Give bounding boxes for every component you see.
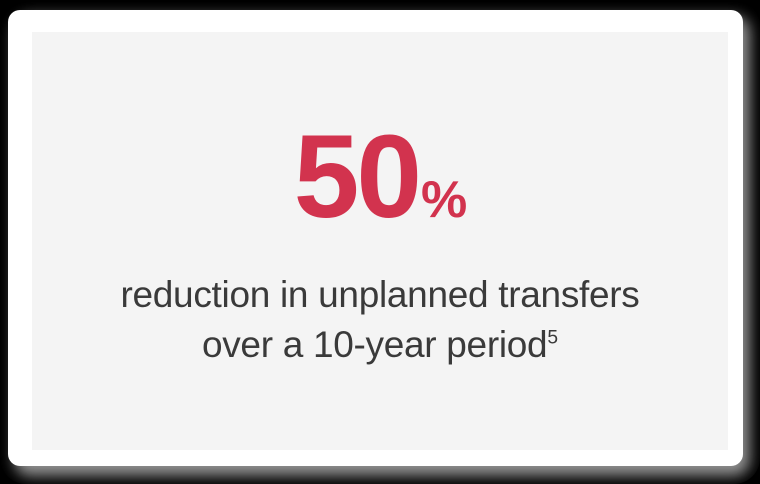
caption-line-2-wrapper: over a 10-year period5 bbox=[120, 320, 639, 370]
white-frame-card: 50 % reduction in unplanned transfers ov… bbox=[8, 10, 743, 466]
caption-line-2: over a 10-year period bbox=[202, 324, 547, 365]
statistic-value: 50 bbox=[294, 118, 419, 236]
statistic-unit-percent: % bbox=[421, 174, 466, 226]
caption-line-1: reduction in unplanned transfers bbox=[120, 270, 639, 320]
footnote-reference-marker: 5 bbox=[547, 327, 558, 348]
statistic-caption: reduction in unplanned transfers over a … bbox=[120, 270, 639, 369]
statistic-panel: 50 % reduction in unplanned transfers ov… bbox=[32, 32, 728, 450]
statistic-card-stage: 50 % reduction in unplanned transfers ov… bbox=[0, 0, 760, 484]
statistic-headline: 50 % bbox=[294, 118, 467, 236]
